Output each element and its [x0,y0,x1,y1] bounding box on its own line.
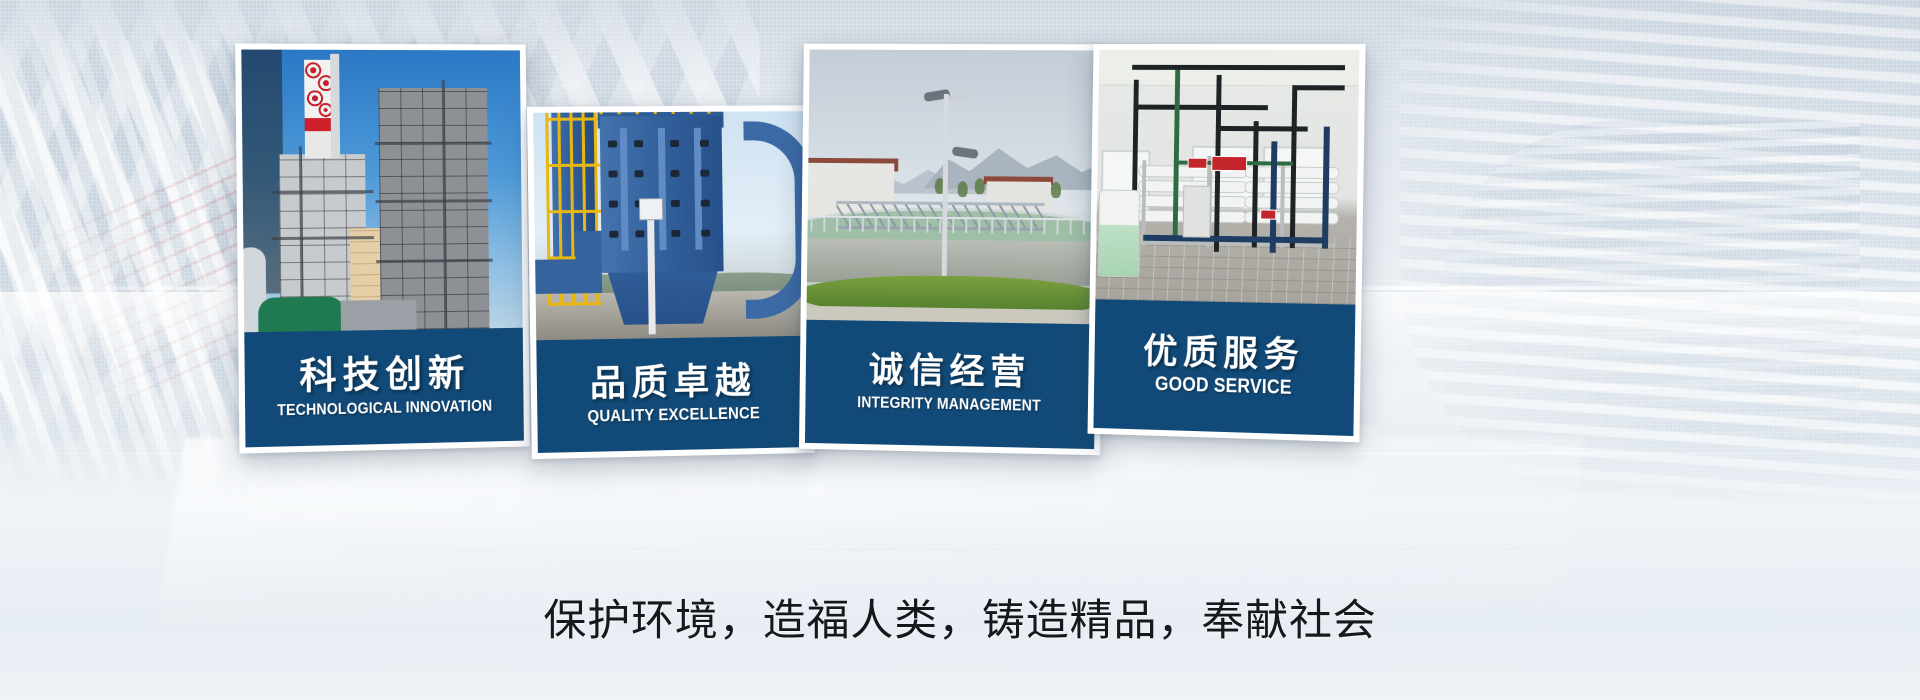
value-card-label: 诚信经营 INTEGRITY MANAGEMENT [805,320,1096,449]
value-card-title-cn: 品质卓越 [590,361,757,402]
value-card-integrity-management[interactable]: 诚信经营 INTEGRITY MANAGEMENT [799,44,1105,456]
value-card-quality-excellence[interactable]: 品质卓越 QUALITY EXCELLENCE [527,105,815,459]
value-card-label: 科技创新 TECHNOLOGICAL INNOVATION [244,328,524,448]
industrial-desulfurization-plant-photo [241,50,522,333]
reverse-osmosis-water-treatment-photo [1095,50,1359,305]
value-card-title-cn: 优质服务 [1143,334,1305,374]
company-culture-banner: 科技创新 TECHNOLOGICAL INNOVATION [0,0,1920,700]
value-card-technological-innovation[interactable]: 科技创新 TECHNOLOGICAL INNOVATION [235,43,530,453]
value-card-title-en: TECHNOLOGICAL INNOVATION [277,397,492,420]
wastewater-treatment-clarifier-photo [806,50,1099,325]
value-card-good-service[interactable]: 优质服务 GOOD SERVICE [1088,44,1366,442]
value-card-title-en: QUALITY EXCELLENCE [587,403,760,426]
value-card-label: 品质卓越 QUALITY EXCELLENCE [536,336,809,453]
value-card-list: 科技创新 TECHNOLOGICAL INNOVATION [0,0,1920,700]
value-card-title-en: INTEGRITY MANAGEMENT [858,394,1042,416]
banner-tagline: 保护环境，造福人类，铸造精品，奉献社会 [0,600,1920,643]
value-card-title-cn: 诚信经营 [869,353,1031,392]
value-card-title-en: GOOD SERVICE [1155,373,1292,400]
baghouse-dust-collector-photo [533,111,807,340]
value-card-title-cn: 科技创新 [299,355,470,397]
value-card-label: 优质服务 GOOD SERVICE [1093,299,1355,436]
